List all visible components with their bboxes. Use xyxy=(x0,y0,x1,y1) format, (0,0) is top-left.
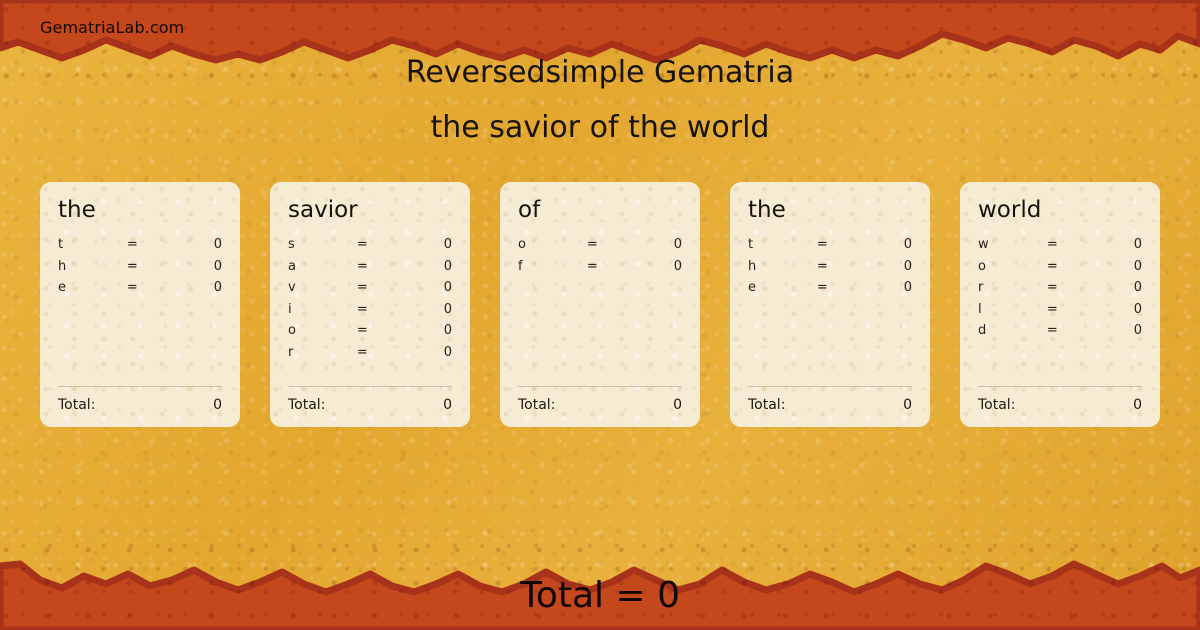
letter-value: 0 xyxy=(393,302,452,317)
card-word-title: world xyxy=(978,198,1142,223)
letter-char: d xyxy=(978,323,1047,338)
word-card: ofo=0f=0Total:0 xyxy=(500,182,700,427)
letter-row: d=0 xyxy=(978,323,1142,345)
equals-symbol: = xyxy=(1047,302,1083,317)
letter-char: o xyxy=(518,237,587,252)
letter-value: 0 xyxy=(393,259,452,274)
equals-symbol: = xyxy=(1047,259,1083,274)
equals-symbol: = xyxy=(127,237,163,252)
letter-row: o=0 xyxy=(288,323,452,345)
card-total-row: Total:0 xyxy=(58,397,222,413)
letter-row: a=0 xyxy=(288,259,452,281)
word-card: worldw=0o=0r=0l=0d=0Total:0 xyxy=(960,182,1160,427)
letter-row: e=0 xyxy=(58,280,222,302)
card-divider xyxy=(58,386,222,387)
letter-char: r xyxy=(288,345,357,360)
card-total-value: 0 xyxy=(673,397,682,413)
letter-row: h=0 xyxy=(748,259,912,281)
card-total-row: Total:0 xyxy=(748,397,912,413)
card-total-value: 0 xyxy=(903,397,912,413)
letter-row: i=0 xyxy=(288,302,452,324)
page-subtitle: the savior of the world xyxy=(0,111,1200,144)
letter-value: 0 xyxy=(163,259,222,274)
word-card: thet=0h=0e=0Total:0 xyxy=(40,182,240,427)
equals-symbol: = xyxy=(1047,323,1083,338)
card-divider xyxy=(978,386,1142,387)
letter-value: 0 xyxy=(1083,280,1142,295)
letter-row: s=0 xyxy=(288,237,452,259)
card-word-title: savior xyxy=(288,198,452,223)
letter-row: w=0 xyxy=(978,237,1142,259)
equals-symbol: = xyxy=(817,259,853,274)
letter-char: l xyxy=(978,302,1047,317)
title-block: Reversedsimple Gematria the savior of th… xyxy=(0,56,1200,144)
word-card: saviors=0a=0v=0i=0o=0r=0Total:0 xyxy=(270,182,470,427)
equals-symbol: = xyxy=(357,259,393,274)
letter-row: l=0 xyxy=(978,302,1142,324)
letter-value: 0 xyxy=(853,237,912,252)
letter-char: t xyxy=(748,237,817,252)
letter-value: 0 xyxy=(1083,237,1142,252)
letter-value: 0 xyxy=(853,259,912,274)
letter-value: 0 xyxy=(1083,302,1142,317)
letter-char: o xyxy=(288,323,357,338)
letter-list: o=0f=0 xyxy=(518,237,682,386)
card-total-label: Total: xyxy=(518,397,555,413)
card-total-label: Total: xyxy=(748,397,785,413)
letter-list: t=0h=0e=0 xyxy=(748,237,912,386)
card-word-title: the xyxy=(748,198,912,223)
page-title: Reversedsimple Gematria xyxy=(0,56,1200,89)
letter-row: e=0 xyxy=(748,280,912,302)
card-total-label: Total: xyxy=(58,397,95,413)
card-total-label: Total: xyxy=(978,397,1015,413)
letter-row: r=0 xyxy=(978,280,1142,302)
letter-char: w xyxy=(978,237,1047,252)
equals-symbol: = xyxy=(357,237,393,252)
letter-value: 0 xyxy=(623,237,682,252)
equals-symbol: = xyxy=(357,345,393,360)
card-total-row: Total:0 xyxy=(518,397,682,413)
site-brand[interactable]: GematriaLab.com xyxy=(40,18,184,37)
equals-symbol: = xyxy=(1047,237,1083,252)
card-total-value: 0 xyxy=(443,397,452,413)
letter-row: r=0 xyxy=(288,345,452,367)
card-total-value: 0 xyxy=(1133,397,1142,413)
letter-value: 0 xyxy=(393,345,452,360)
equals-symbol: = xyxy=(1047,280,1083,295)
letter-row: t=0 xyxy=(58,237,222,259)
letter-char: o xyxy=(978,259,1047,274)
footer-grand-total: Total = 0 xyxy=(0,575,1200,616)
letter-value: 0 xyxy=(393,323,452,338)
letter-char: f xyxy=(518,259,587,274)
letter-row: o=0 xyxy=(518,237,682,259)
letter-char: i xyxy=(288,302,357,317)
letter-char: s xyxy=(288,237,357,252)
equals-symbol: = xyxy=(357,280,393,295)
letter-value: 0 xyxy=(1083,323,1142,338)
card-total-label: Total: xyxy=(288,397,325,413)
card-divider xyxy=(748,386,912,387)
letter-char: r xyxy=(978,280,1047,295)
letter-char: e xyxy=(58,280,127,295)
equals-symbol: = xyxy=(357,302,393,317)
card-total-value: 0 xyxy=(213,397,222,413)
equals-symbol: = xyxy=(357,323,393,338)
word-card: thet=0h=0e=0Total:0 xyxy=(730,182,930,427)
letter-value: 0 xyxy=(1083,259,1142,274)
equals-symbol: = xyxy=(817,280,853,295)
letter-row: o=0 xyxy=(978,259,1142,281)
equals-symbol: = xyxy=(127,259,163,274)
letter-value: 0 xyxy=(393,237,452,252)
equals-symbol: = xyxy=(817,237,853,252)
card-word-title: the xyxy=(58,198,222,223)
letter-char: h xyxy=(748,259,817,274)
card-divider xyxy=(518,386,682,387)
card-total-row: Total:0 xyxy=(978,397,1142,413)
letter-row: t=0 xyxy=(748,237,912,259)
letter-char: e xyxy=(748,280,817,295)
letter-value: 0 xyxy=(623,259,682,274)
letter-row: v=0 xyxy=(288,280,452,302)
equals-symbol: = xyxy=(127,280,163,295)
letter-value: 0 xyxy=(163,280,222,295)
letter-list: t=0h=0e=0 xyxy=(58,237,222,386)
letter-value: 0 xyxy=(163,237,222,252)
word-cards-row: thet=0h=0e=0Total:0saviors=0a=0v=0i=0o=0… xyxy=(40,182,1160,427)
equals-symbol: = xyxy=(587,259,623,274)
letter-row: h=0 xyxy=(58,259,222,281)
card-total-row: Total:0 xyxy=(288,397,452,413)
letter-char: a xyxy=(288,259,357,274)
card-divider xyxy=(288,386,452,387)
letter-char: t xyxy=(58,237,127,252)
letter-char: h xyxy=(58,259,127,274)
letter-char: v xyxy=(288,280,357,295)
letter-list: s=0a=0v=0i=0o=0r=0 xyxy=(288,237,452,386)
card-word-title: of xyxy=(518,198,682,223)
letter-row: f=0 xyxy=(518,259,682,281)
letter-value: 0 xyxy=(853,280,912,295)
equals-symbol: = xyxy=(587,237,623,252)
letter-list: w=0o=0r=0l=0d=0 xyxy=(978,237,1142,386)
letter-value: 0 xyxy=(393,280,452,295)
